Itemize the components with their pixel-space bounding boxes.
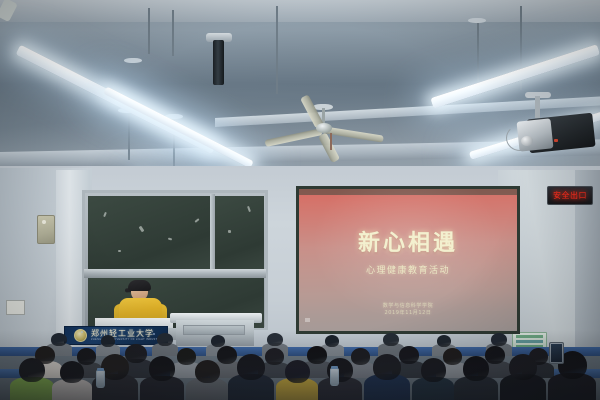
exit-sign-label: 安全出口: [553, 190, 587, 201]
projector-mount-arm: [535, 96, 540, 118]
water-bottle[interactable]: [96, 370, 105, 388]
audience-head: [195, 360, 220, 383]
chalk-mark: [228, 230, 231, 233]
audience-member: [412, 360, 454, 400]
slide-footer: 数学与信息科学学院 2019年11月12日: [299, 303, 517, 317]
projection-screen: 新心相遇 心理健康教育活动 数学与信息科学学院 2019年11月12日: [299, 189, 517, 331]
audience-head: [325, 335, 339, 347]
audience-head: [237, 354, 265, 380]
audience-head: [157, 333, 173, 346]
audience-head: [211, 335, 225, 347]
audience-member: [500, 356, 546, 400]
blackboard-divider: [210, 194, 215, 272]
slide-footer-org: 数学与信息科学学院: [299, 303, 517, 310]
audience-member: [318, 360, 362, 400]
audience-member: [454, 358, 498, 400]
light-mount-plate: [124, 58, 142, 63]
slide-title: 新心相遇: [299, 225, 517, 257]
projector-power-led: [554, 139, 558, 142]
audience-head: [437, 335, 451, 347]
audience-area: [0, 330, 600, 400]
smartphone-screen: [551, 344, 562, 362]
audience-head: [101, 335, 115, 347]
audience-head: [60, 361, 84, 383]
blackboard-panel: [214, 196, 264, 270]
chalk-mark: [118, 250, 121, 252]
light-hanger-rod: [276, 6, 278, 94]
water-bottle[interactable]: [330, 368, 339, 386]
audience-member: [276, 362, 318, 400]
light-hanger-rod: [128, 112, 130, 160]
water-bottle-cap: [97, 368, 104, 371]
audience-member: [52, 364, 92, 400]
audience-member: [10, 360, 54, 400]
light-hanger-rod: [172, 10, 174, 56]
ceiling-fan-pull-chain[interactable]: [330, 133, 332, 150]
audience-member: [364, 356, 410, 400]
presenter-cap: [128, 280, 151, 291]
audience-head: [509, 354, 537, 380]
classroom-photo: 安全出口 新心相遇 心理健康教育活动 数学与信息科学学院 2019年11月12日: [0, 0, 600, 400]
electrical-box-indicator: [42, 220, 46, 224]
audience-head: [149, 356, 175, 381]
water-bottle-cap: [331, 366, 338, 369]
screen-corner-mark: [305, 318, 310, 322]
chalk-tray: [84, 269, 266, 278]
light-mount-plate: [468, 18, 486, 23]
hanging-speaker: [213, 40, 224, 85]
electrical-box: [37, 215, 55, 244]
audience-head: [19, 358, 45, 382]
slide-subtitle: 心理健康教育活动: [299, 263, 517, 276]
audience-head: [373, 354, 401, 380]
audience-head: [101, 354, 129, 380]
audience-head: [491, 333, 507, 346]
audience-head: [421, 358, 446, 382]
wall-outlet[interactable]: [6, 300, 25, 315]
light-hanger-rod: [148, 8, 150, 54]
projector-cable: [506, 125, 534, 151]
slide-footer-date: 2019年11月12日: [299, 310, 517, 317]
audience-member: [140, 358, 184, 400]
audience-member: [186, 362, 228, 400]
audience-head: [51, 333, 67, 346]
audience-head: [267, 333, 283, 346]
ceiling-soffit: [0, 0, 600, 22]
exit-sign: 安全出口: [547, 186, 593, 205]
audience-head: [383, 333, 399, 346]
audience-head: [285, 360, 310, 383]
raised-smartphone[interactable]: [549, 342, 564, 364]
audience-member: [228, 356, 274, 400]
audience-head: [463, 356, 489, 381]
projection-screen-frame: 新心相遇 心理健康教育活动 数学与信息科学学院 2019年11月12日: [296, 186, 520, 334]
blackboard-panel: [88, 196, 210, 270]
ceiling-fan-hub: [316, 123, 332, 133]
